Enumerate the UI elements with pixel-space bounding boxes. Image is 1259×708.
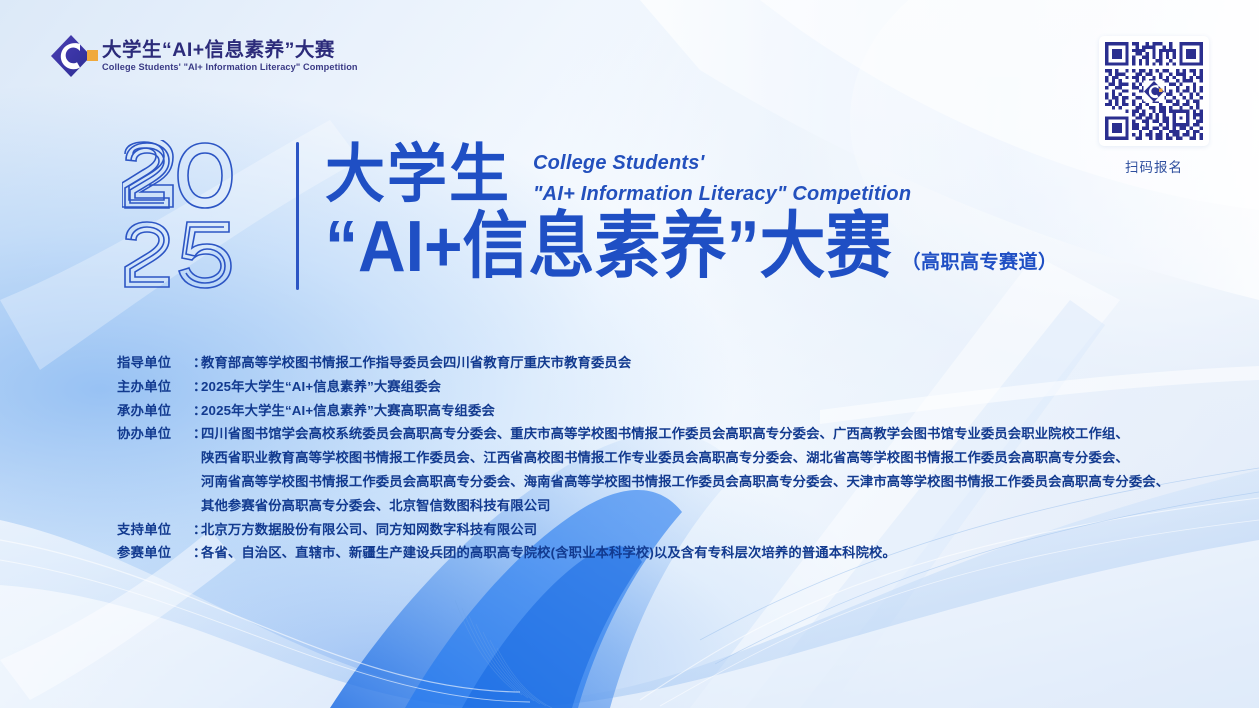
org-label: 指导单位 [117,356,193,369]
org-row-participants: 参赛单位 ： 各省、自治区、直辖市、新疆生产建设兵团的高职高专院校(含职业本科学… [117,546,1207,559]
qr-caption: 扫码报名 [1099,156,1209,176]
logo-title-cn: 大学生“AI+信息素养”大赛 [102,39,358,61]
org-colon: ： [193,404,201,417]
hero-title-cn-line1: 大学生 [325,142,511,207]
org-row-coorganizer-cont-1: 陕西省职业教育高等学校图书情报工作委员会、江西省高校图书情报工作专业委员会高职高… [117,451,1207,464]
org-row-organizer: 承办单位 ： 2025年大学生“AI+信息素养”大赛高职高专组委会 [117,404,1207,417]
org-value: 各省、自治区、直辖市、新疆生产建设兵团的高职高专院校(含职业本科学校)以及含有专… [201,546,896,559]
org-label: 承办单位 [117,404,193,417]
org-value: 陕西省职业教育高等学校图书情报工作委员会、江西省高校图书情报工作专业委员会高职高… [201,451,1129,464]
org-row-host: 主办单位 ： 2025年大学生“AI+信息素养”大赛组委会 [117,380,1207,393]
hero-title-en-line1: College Students' [533,148,911,179]
hero-section: 大学生 College Students' "AI+ Information L… [122,140,1058,290]
poster-canvas: 大学生“AI+信息素养”大赛 College Students' "AI+ In… [0,0,1259,708]
org-value: 北京万方数据股份有限公司、同方知网数字科技有限公司 [201,523,537,536]
org-colon: ： [193,380,201,393]
org-value: 河南省高等学校图书情报工作委员会高职高专分委会、海南省高等学校图书情报工作委员会… [201,475,1169,488]
org-label: 协办单位 [117,427,193,440]
org-value: 2025年大学生“AI+信息素养”大赛高职高专组委会 [201,404,495,417]
org-label: 支持单位 [117,523,193,536]
year-2025 [122,140,282,290]
org-row-coorganizer-cont-2: 河南省高等学校图书情报工作委员会高职高专分委会、海南省高等学校图书情报工作委员会… [117,475,1207,488]
org-colon: ： [193,427,201,440]
org-colon: ： [193,356,201,369]
org-row-coorganizer: 协办单位 ： 四川省图书馆学会高校系统委员会高职高专分委会、重庆市高等学校图书情… [117,427,1207,440]
logo-title-en: College Students' "AI+ Information Liter… [102,62,358,73]
hero-title-cn-line2: “AI+信息素养”大赛 [325,209,892,282]
c-diamond-logo-icon [50,34,92,78]
qr-center-logo-icon [1144,81,1165,102]
org-colon: ： [193,546,201,559]
org-value: 教育部高等学校图书情报工作指导委员会四川省教育厅重庆市教育委员会 [201,356,631,369]
org-label: 主办单位 [117,380,193,393]
qr-registration-block[interactable]: 扫码报名 [1099,36,1209,176]
qr-code-icon[interactable] [1099,36,1209,146]
orange-square-icon [87,50,98,61]
org-row-coorganizer-cont-3: 其他参赛省份高职高专分委会、北京智信数图科技有限公司 [117,499,1207,512]
hero-divider [296,142,299,290]
org-row-guidance: 指导单位 ： 教育部高等学校图书情报工作指导委员会四川省教育厅重庆市教育委员会 [117,356,1207,369]
organization-info: 指导单位 ： 教育部高等学校图书情报工作指导委员会四川省教育厅重庆市教育委员会 … [117,356,1207,570]
org-colon: ： [193,523,201,536]
hero-track-tag: （高职高专赛道） [902,247,1058,274]
org-row-support: 支持单位 ： 北京万方数据股份有限公司、同方知网数字科技有限公司 [117,523,1207,536]
background-waves [0,0,1259,708]
org-value: 四川省图书馆学会高校系统委员会高职高专分委会、重庆市高等学校图书情报工作委员会高… [201,427,1129,440]
org-label: 参赛单位 [117,546,193,559]
org-value: 2025年大学生“AI+信息素养”大赛组委会 [201,380,441,393]
org-value: 其他参赛省份高职高专分委会、北京智信数图科技有限公司 [201,499,551,512]
brand-logo[interactable]: 大学生“AI+信息素养”大赛 College Students' "AI+ In… [50,34,358,78]
